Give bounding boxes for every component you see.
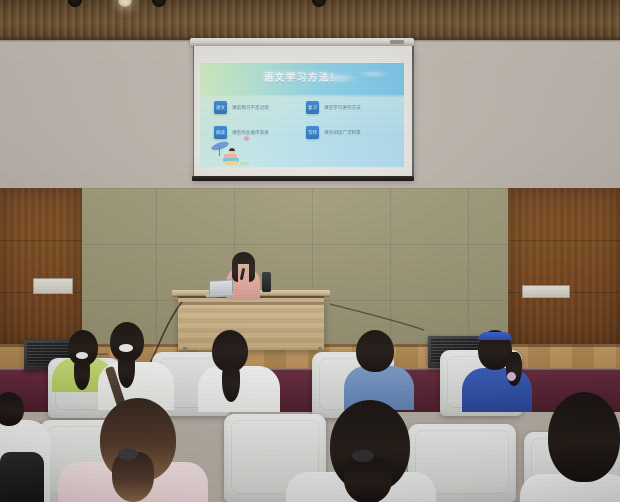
audience-member-9-head — [548, 392, 620, 482]
audience-member-6-head — [0, 392, 24, 426]
slide-bullet-list: 语文 课前预习不走过场 复习 课堂学习讲究方法 阅读 课后作业循序渐进 写作 课… — [214, 101, 390, 139]
slide-bullet-item: 复习 课堂学习讲究方法 — [306, 101, 390, 114]
slide-bullet-text: 课前预习不走过场 — [232, 105, 269, 111]
audience-member-5-headband — [478, 332, 512, 340]
audience-member-6-bag — [0, 452, 44, 502]
curtain-valance — [0, 0, 620, 40]
audience-member-5-scrunchie — [507, 372, 516, 381]
audience-member-1-scrunchie — [76, 352, 88, 359]
audience-member-8-scrunchie — [352, 450, 374, 462]
audience-member-2-ponytail — [118, 350, 135, 388]
audience-member-3-ponytail — [222, 362, 240, 402]
slide-bullet-badge: 写作 — [306, 126, 319, 139]
slide-title: 语文学习方法！ — [200, 69, 404, 84]
audience-member-7-ponytail — [112, 452, 154, 502]
lecture-hall-scene: 语文学习方法！ 语文 课前预习不走过场 复习 课堂学习讲究方法 阅读 课后作业循… — [0, 0, 620, 502]
screen-housing-knob — [390, 40, 404, 44]
projection-screen-bottom-bar — [192, 176, 414, 181]
audience-member-5-ponytail — [506, 352, 522, 386]
audience-member-2-scrunchie — [119, 344, 133, 352]
presentation-slide: 语文学习方法！ 语文 课前预习不走过场 复习 课堂学习讲究方法 阅读 课后作业循… — [200, 63, 404, 167]
slide-bullet-item: 写作 课外阅读广泛积累 — [306, 126, 390, 139]
audience-member-4-head — [356, 330, 394, 372]
slide-bullet-text: 课外阅读广泛积累 — [324, 130, 361, 136]
audience-member-7-scrunchie — [118, 448, 138, 460]
slide-student-illustration — [210, 137, 266, 167]
slide-bullet-item: 语文 课前预习不走过场 — [214, 101, 298, 114]
slide-bullet-text: 课堂学习讲究方法 — [324, 105, 361, 111]
audience-member-1-ponytail — [74, 356, 90, 390]
desk-microphone-stand — [262, 272, 271, 292]
projection-screen: 语文学习方法！ 语文 课前预习不走过场 复习 课堂学习讲究方法 阅读 课后作业循… — [193, 46, 414, 180]
slide-bullet-badge: 复习 — [306, 101, 319, 114]
slide-bullet-badge: 语文 — [214, 101, 227, 114]
audience-member-8-ponytail — [344, 456, 392, 502]
projection-screen-housing — [190, 38, 414, 46]
slide-bullet-text: 课后作业循序渐进 — [232, 130, 269, 136]
